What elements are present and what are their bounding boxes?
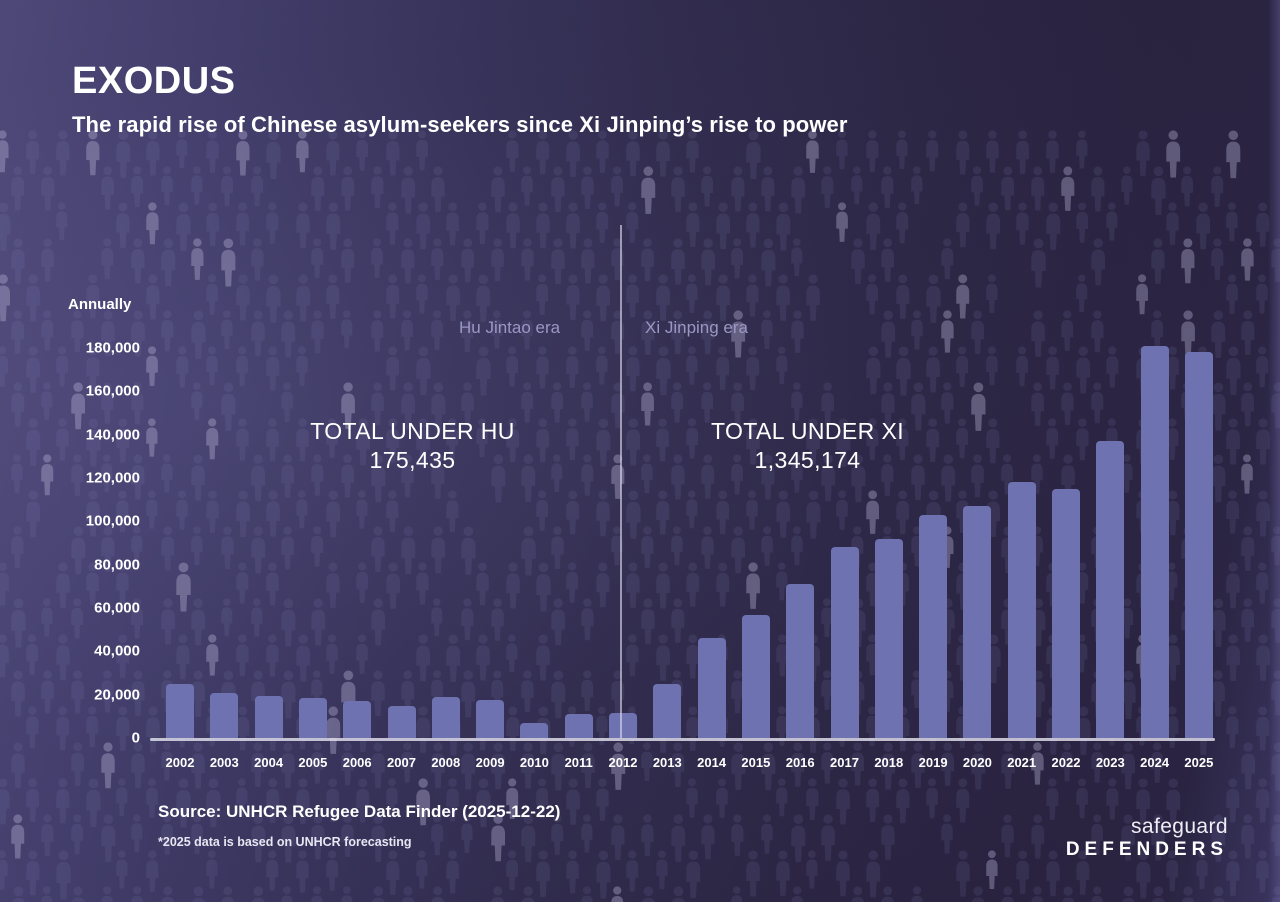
bar-2025 xyxy=(1185,352,1213,738)
x-axis-tick-2005: 2005 xyxy=(290,755,336,770)
total-under-hu-value: 175,435 xyxy=(250,446,575,475)
bar-2023 xyxy=(1096,441,1124,738)
total-under-xi: TOTAL UNDER XI 1,345,174 xyxy=(645,417,970,475)
x-axis-tick-2024: 2024 xyxy=(1132,755,1178,770)
x-axis-tick-2019: 2019 xyxy=(910,755,956,770)
bar-2013 xyxy=(653,684,681,738)
total-under-hu: TOTAL UNDER HU 175,435 xyxy=(250,417,575,475)
era-label-xi: Xi Jinping era xyxy=(645,318,748,338)
logo-top-text: safeguard xyxy=(1066,815,1228,839)
bar-2005 xyxy=(299,698,327,738)
bar-2020 xyxy=(963,506,991,738)
x-axis-tick-2025: 2025 xyxy=(1176,755,1222,770)
era-divider-line xyxy=(620,225,622,738)
x-axis-tick-2009: 2009 xyxy=(467,755,513,770)
bar-2017 xyxy=(831,547,859,738)
x-axis-tick-2002: 2002 xyxy=(157,755,203,770)
bar-2004 xyxy=(255,696,283,738)
bar-2007 xyxy=(388,706,416,739)
x-axis-tick-2022: 2022 xyxy=(1043,755,1089,770)
x-axis-tick-2020: 2020 xyxy=(954,755,1000,770)
bar-2015 xyxy=(742,615,770,739)
x-axis-tick-2008: 2008 xyxy=(423,755,469,770)
bar-2006 xyxy=(343,701,371,738)
x-axis-baseline xyxy=(150,738,1215,741)
x-axis-tick-2013: 2013 xyxy=(644,755,690,770)
total-under-hu-title: TOTAL UNDER HU xyxy=(250,417,575,446)
bar-2016 xyxy=(786,584,814,738)
infographic-canvas: EXODUS The rapid rise of Chinese asylum-… xyxy=(0,0,1280,902)
x-axis-tick-2003: 2003 xyxy=(201,755,247,770)
bar-2019 xyxy=(919,515,947,738)
bar-2022 xyxy=(1052,489,1080,738)
bar-2002 xyxy=(166,684,194,738)
x-axis-tick-2014: 2014 xyxy=(689,755,735,770)
bar-2021 xyxy=(1008,482,1036,738)
x-axis-tick-2021: 2021 xyxy=(999,755,1045,770)
total-under-xi-title: TOTAL UNDER XI xyxy=(645,417,970,446)
x-axis-tick-2006: 2006 xyxy=(334,755,380,770)
x-axis-tick-2011: 2011 xyxy=(556,755,602,770)
bar-2010 xyxy=(520,723,548,738)
bar-2008 xyxy=(432,697,460,738)
x-axis-tick-2007: 2007 xyxy=(379,755,425,770)
x-axis-tick-2015: 2015 xyxy=(733,755,779,770)
bar-2009 xyxy=(476,700,504,738)
safeguard-defenders-logo: safeguard DEFENDERS xyxy=(1066,815,1228,861)
x-axis-tick-2017: 2017 xyxy=(822,755,868,770)
x-axis-tick-labels: 2002200320042005200620072008200920102011… xyxy=(0,755,1280,777)
x-axis-tick-2018: 2018 xyxy=(866,755,912,770)
x-axis-tick-2023: 2023 xyxy=(1087,755,1133,770)
bar-2018 xyxy=(875,539,903,738)
bar-2011 xyxy=(565,714,593,738)
x-axis-tick-2010: 2010 xyxy=(511,755,557,770)
total-under-xi-value: 1,345,174 xyxy=(645,446,970,475)
bar-2012 xyxy=(609,713,637,738)
bar-2024 xyxy=(1141,346,1169,738)
x-axis-tick-2004: 2004 xyxy=(246,755,292,770)
era-label-hu: Hu Jintao era xyxy=(459,318,560,338)
bar-2003 xyxy=(210,693,238,739)
logo-bottom-text: DEFENDERS xyxy=(1066,839,1228,861)
bar-2014 xyxy=(698,638,726,738)
source-text: Source: UNHCR Refugee Data Finder (2025-… xyxy=(158,802,560,822)
footnote-text: *2025 data is based on UNHCR forecasting xyxy=(158,835,412,849)
x-axis-tick-2016: 2016 xyxy=(777,755,823,770)
x-axis-tick-2012: 2012 xyxy=(600,755,646,770)
